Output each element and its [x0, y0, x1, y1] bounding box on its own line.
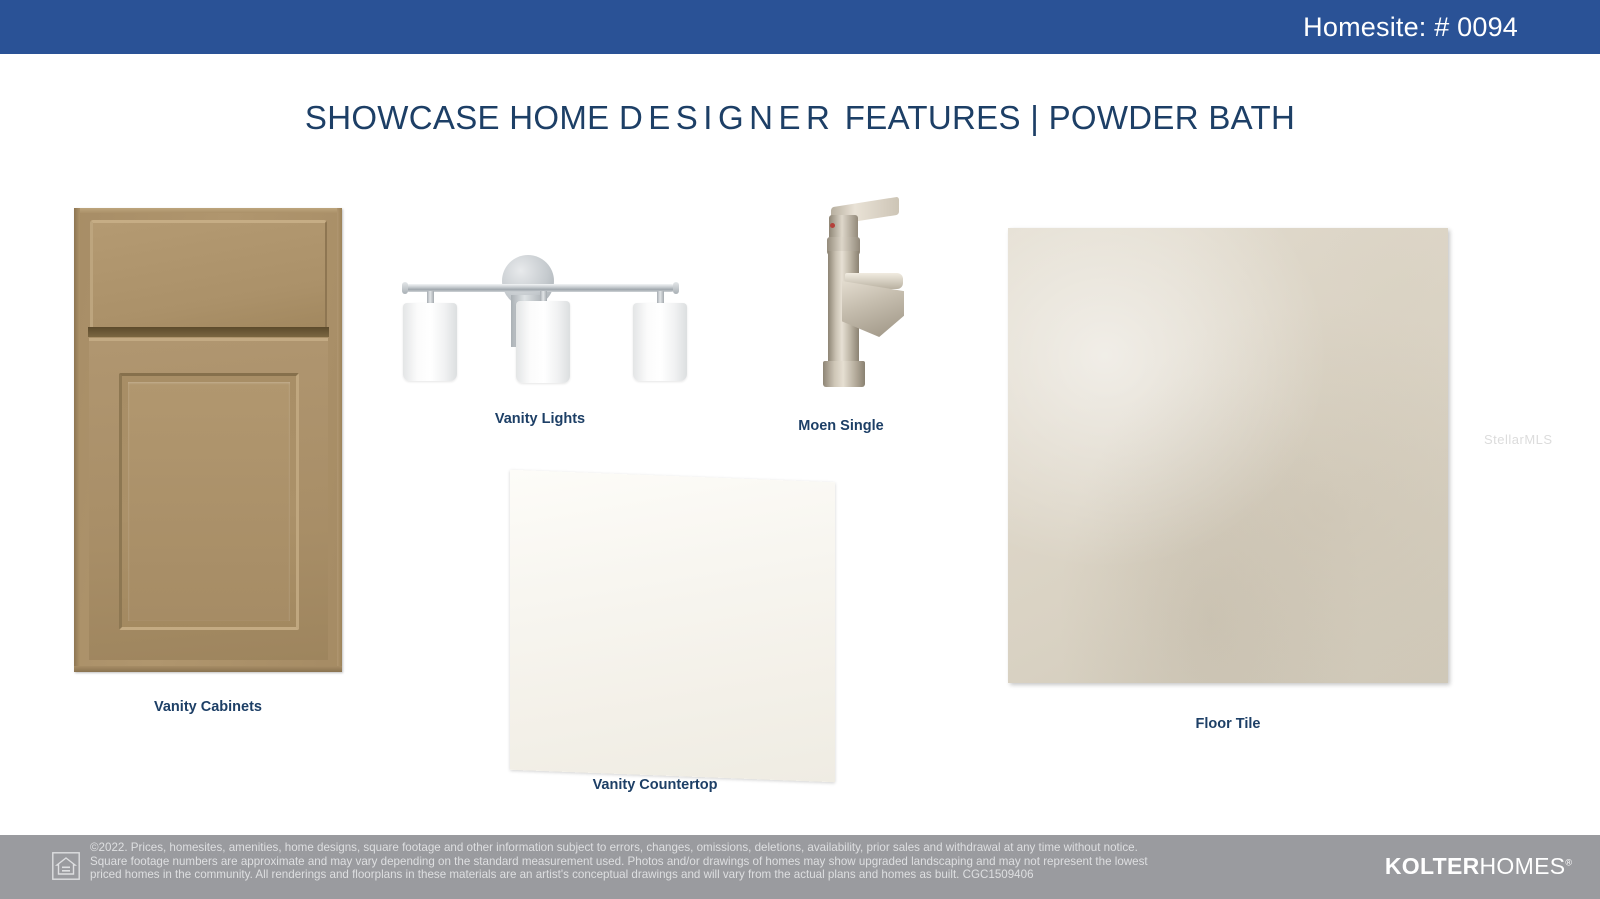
- vanity-countertop-label: Vanity Countertop: [510, 777, 800, 793]
- moen-single-label: Moen Single: [741, 418, 941, 434]
- light-shade-2: [516, 301, 570, 383]
- homesite-number: Homesite: # 0094: [1303, 12, 1518, 43]
- page-title-part1: SHOWCASE HOME: [305, 99, 619, 136]
- footer-bar: ©2022. Prices, homesites, amenities, hom…: [0, 835, 1600, 899]
- logo-registered-mark: ®: [1565, 857, 1572, 867]
- vanity-lights-image: [380, 255, 700, 400]
- logo-homes-text: HOMES: [1480, 853, 1566, 879]
- equal-housing-opportunity-icon: [52, 852, 80, 880]
- footer-disclaimer-line-1: ©2022. Prices, homesites, amenities, hom…: [90, 841, 1320, 855]
- header-bar: Homesite: # 0094: [0, 0, 1600, 54]
- page-title: SHOWCASE HOME DESIGNER FEATURES | POWDER…: [0, 99, 1600, 137]
- cabinet-drawer-gap: [88, 327, 329, 337]
- faucet-base: [823, 361, 865, 387]
- page-title-part3: FEATURES | POWDER BATH: [835, 99, 1295, 136]
- cabinet-door-panel-field: [128, 382, 290, 621]
- logo-kolter-text: KOLTER: [1385, 853, 1480, 879]
- moen-single-faucet-image: [790, 185, 910, 400]
- cabinet-door-front: [89, 338, 328, 660]
- faucet-indicator-dot: [830, 223, 835, 228]
- floor-tile-label: Floor Tile: [1008, 716, 1448, 732]
- page-title-designer: DESIGNER: [619, 99, 835, 136]
- floor-tile-image: [1008, 228, 1448, 683]
- kolter-homes-logo: KOLTERHOMES®: [1385, 853, 1572, 880]
- cabinet-right-edge: [337, 208, 342, 672]
- light-crossbar-cap-left: [402, 282, 408, 294]
- vanity-lights-label: Vanity Lights: [440, 411, 640, 427]
- cabinet-bottom-edge: [74, 666, 342, 672]
- vanity-countertop-image: [510, 470, 835, 782]
- footer-disclaimer: ©2022. Prices, homesites, amenities, hom…: [90, 841, 1320, 882]
- stellar-mls-watermark: StellarMLS: [1484, 432, 1553, 447]
- footer-disclaimer-line-3: priced homes in the community. All rende…: [90, 868, 1320, 882]
- cabinet-top-edge: [74, 208, 342, 213]
- cabinet-door-panel: [119, 373, 299, 630]
- light-crossbar-cap-right: [673, 282, 679, 294]
- light-shade-3: [633, 303, 687, 381]
- light-shade-1: [403, 303, 457, 381]
- cabinet-drawer-front: [90, 220, 327, 331]
- footer-disclaimer-line-2: Square footage numbers are approximate a…: [90, 855, 1320, 869]
- vanity-cabinets-label: Vanity Cabinets: [74, 699, 342, 715]
- vanity-cabinets-image: [74, 208, 342, 672]
- cabinet-left-edge: [74, 208, 80, 672]
